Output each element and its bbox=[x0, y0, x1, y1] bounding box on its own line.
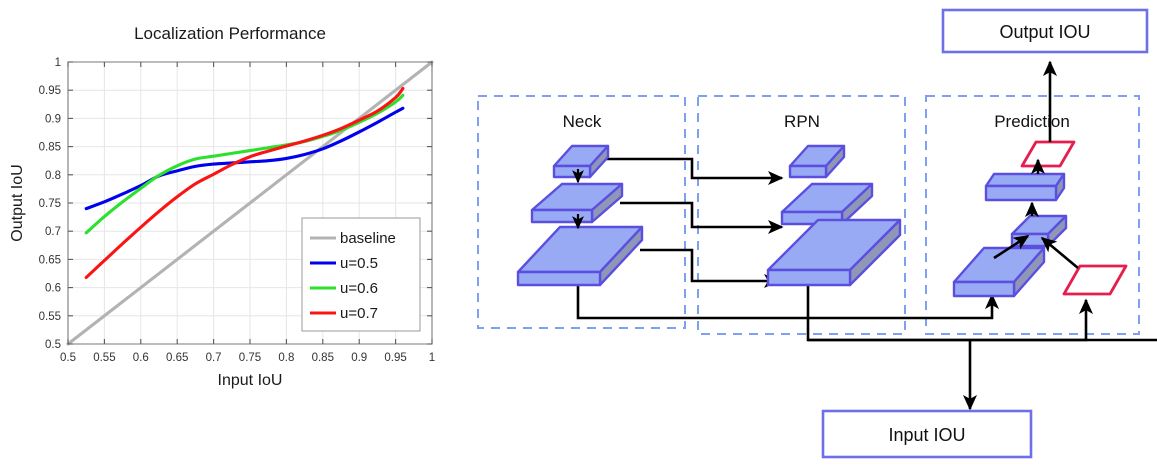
screenshot-root: Localization Performance 0.50.550.60.650… bbox=[0, 0, 1157, 470]
chart-xtick-label: 0.6 bbox=[133, 352, 149, 364]
diagram-canvas: Neck RPN Prediction bbox=[460, 0, 1157, 470]
neck-feature-level3 bbox=[518, 227, 642, 285]
chart-legend-label: u=0.6 bbox=[340, 280, 378, 297]
neck-feature-level1 bbox=[554, 146, 608, 177]
chart-legend-label: u=0.7 bbox=[340, 305, 378, 322]
chart-xtick-label: 0.75 bbox=[239, 352, 261, 364]
chart-xtick-label: 0.9 bbox=[351, 352, 367, 364]
chart-xaxis-title: Input IoU bbox=[218, 372, 283, 389]
connector-neck1-to-rpn1 bbox=[604, 159, 782, 178]
chart-xtick-label: 0.55 bbox=[93, 352, 115, 364]
chart-ytick-label: 0.8 bbox=[45, 170, 61, 182]
chart-ytick-label: 0.95 bbox=[39, 85, 61, 97]
chart-ytick-label: 0.85 bbox=[39, 142, 61, 154]
chart-xtick-label: 0.65 bbox=[166, 352, 188, 364]
connector-neck3-to-rpn3 bbox=[640, 250, 778, 281]
chart-ytick-label: 0.75 bbox=[39, 198, 61, 210]
chart-xtick-label: 0.5 bbox=[60, 352, 76, 364]
output-iou-box-label: Output IOU bbox=[999, 22, 1090, 42]
chart-xtick-label: 0.7 bbox=[206, 352, 222, 364]
chart-canvas: 0.50.550.60.650.70.750.80.850.90.9510.50… bbox=[0, 0, 460, 400]
chart-xtick-label: 0.8 bbox=[278, 352, 294, 364]
chart-legend-label: baseline bbox=[340, 230, 396, 247]
chart-legend-label: u=0.5 bbox=[340, 255, 378, 272]
chart-ytick-label: 0.7 bbox=[45, 226, 61, 238]
rpn-feature-level1 bbox=[790, 146, 844, 177]
chart-ytick-label: 0.5 bbox=[45, 339, 61, 351]
connector-inputiou-to-fusion bbox=[1042, 238, 1078, 268]
chart-ytick-label: 0.65 bbox=[39, 254, 61, 266]
architecture-diagram: Neck RPN Prediction bbox=[460, 0, 1157, 470]
connector-neck-to-prediction-roi bbox=[578, 285, 992, 318]
output-iou-parallelogram bbox=[1022, 142, 1074, 166]
localization-performance-chart: Localization Performance 0.50.550.60.650… bbox=[0, 0, 460, 400]
connector-neck2-to-rpn2 bbox=[620, 203, 782, 227]
chart-yaxis-title: Output IoU bbox=[9, 164, 26, 241]
group-label-prediction: Prediction bbox=[994, 112, 1070, 131]
input-iou-parallelogram bbox=[1064, 266, 1126, 294]
rpn-feature-level3 bbox=[768, 220, 900, 285]
chart-xtick-label: 0.85 bbox=[312, 352, 334, 364]
chart-series-u-0-6 bbox=[86, 95, 403, 233]
chart-ytick-label: 1 bbox=[55, 57, 61, 69]
chart-xtick-label: 0.95 bbox=[384, 352, 406, 364]
rpn-feature-level2 bbox=[782, 184, 872, 224]
group-label-rpn: RPN bbox=[784, 112, 820, 131]
group-label-neck: Neck bbox=[563, 112, 602, 131]
input-iou-box-label: Input IOU bbox=[888, 425, 965, 445]
chart-xtick-label: 1 bbox=[429, 352, 435, 364]
chart-ytick-label: 0.55 bbox=[39, 311, 61, 323]
prediction-fc-block bbox=[986, 174, 1064, 200]
chart-ytick-label: 0.9 bbox=[45, 113, 61, 125]
chart-ytick-label: 0.6 bbox=[45, 283, 61, 295]
